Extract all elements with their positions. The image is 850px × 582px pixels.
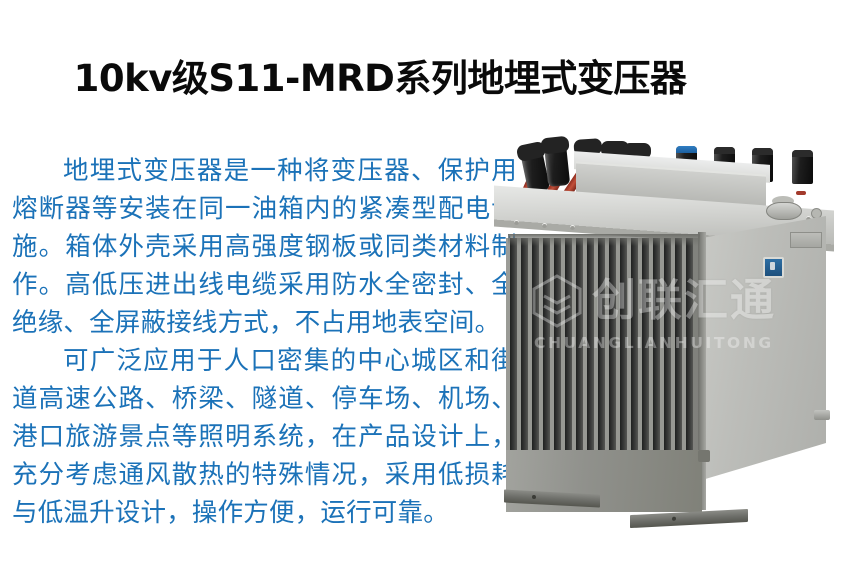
page-title: 10kv级S11-MRD系列地埋式变压器	[0, 48, 760, 102]
radiator-fin	[609, 238, 616, 458]
skid-hole	[532, 495, 536, 499]
cover-bolt-3	[570, 225, 575, 230]
radiator-fin	[554, 238, 561, 458]
cover-bolt-2	[542, 223, 547, 228]
lv-bushing-cap-3	[752, 148, 773, 155]
oil-level-gauge	[763, 257, 784, 278]
lid-red-marker	[796, 191, 806, 195]
radiator-fin	[642, 238, 649, 458]
radiator-fin-bank	[508, 238, 700, 458]
radiator-fin	[543, 238, 550, 458]
radiator-fin	[576, 238, 583, 458]
lv-bushing-4	[792, 150, 813, 184]
radiator-fin	[521, 238, 528, 458]
drain-valve	[814, 410, 830, 420]
radiator-fin	[686, 238, 693, 458]
lv-bushing-cap-4	[792, 150, 813, 157]
radiator-fin	[631, 238, 638, 458]
tank-nameplate	[790, 232, 822, 248]
lv-bushing-cap-2	[714, 147, 735, 154]
radiator-fin	[598, 238, 605, 458]
lid-valve	[766, 202, 802, 220]
product-banner: 10kv级S11-MRD系列地埋式变压器 地埋式变压器是一种将变压器、保护用熔断…	[0, 0, 850, 582]
fin-top-shadow	[508, 234, 700, 246]
hv-elbow-connector-2	[544, 141, 570, 187]
radiator-fin	[620, 238, 627, 458]
radiator-fin	[675, 238, 682, 458]
radiator-fin	[664, 238, 671, 458]
side-lifting-lug	[698, 450, 710, 462]
radiator-fin	[587, 238, 594, 458]
lv-bushing-cap-1	[676, 146, 697, 153]
skid-hole	[672, 517, 676, 521]
cover-bolt-1	[514, 220, 519, 225]
product-description: 地埋式变压器是一种将变压器、保护用熔断器等安装在同一油箱内的紧凑型配电设施。箱体…	[12, 152, 517, 532]
description-paragraph-1: 地埋式变压器是一种将变压器、保护用熔断器等安装在同一油箱内的紧凑型配电设施。箱体…	[12, 152, 517, 342]
radiator-fin	[510, 238, 517, 458]
radiator-fin	[565, 238, 572, 458]
tank-side-face	[702, 216, 826, 480]
product-image	[480, 120, 850, 550]
radiator-fin	[532, 238, 539, 458]
description-paragraph-2: 可广泛应用于人口密集的中心城区和街道高速公路、桥梁、隧道、停车场、机场、港口旅游…	[12, 342, 517, 532]
radiator-fin	[653, 238, 660, 458]
